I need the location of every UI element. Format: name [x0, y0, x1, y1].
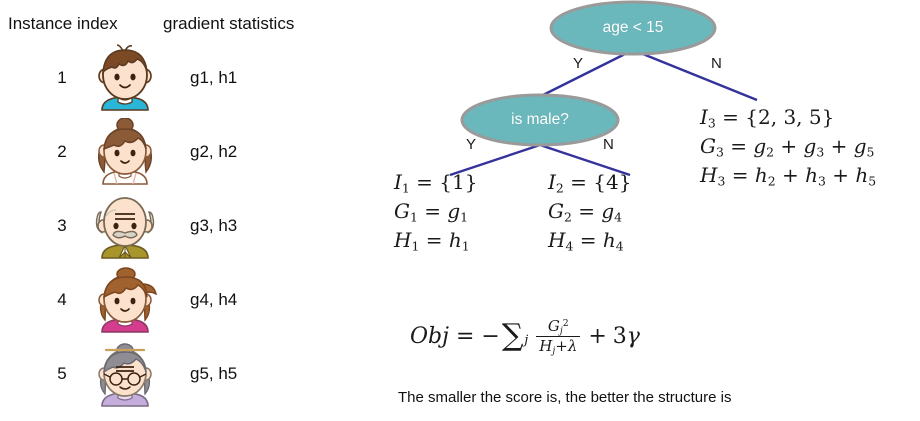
leaf-2-h-var: h	[603, 228, 616, 252]
fraction-denominator: Hj+λ	[536, 336, 580, 355]
leaf-2-instance-set: I2 = {4}	[548, 168, 631, 197]
row-index: 4	[50, 290, 74, 310]
leaf-3-statistics: I3 = {2, 3, 5} G3 = g2 + g3 + g5 H3 = h2…	[700, 103, 876, 190]
table-row: 2 g2, h2	[0, 116, 340, 190]
row-gradient-statistics: g2, h2	[190, 142, 237, 162]
numerator-var: G	[548, 317, 560, 335]
leaf-2-statistics: I2 = {4} G2 = g4 H4 = h4	[548, 168, 631, 255]
leaf-1-h-var: h	[449, 228, 462, 252]
leaf-1-hessian: H1 = h1	[394, 226, 477, 255]
leaf-1-G-sub: 1	[410, 209, 418, 224]
leaf-3-instance-set: I3 = {2, 3, 5}	[700, 103, 876, 132]
denominator-var: H	[539, 337, 552, 355]
old-man-mustache-icon	[92, 192, 158, 260]
objective-gamma: γ	[627, 324, 640, 349]
sum-symbol: ∑	[502, 321, 523, 351]
column-header-instance-index: Instance index	[8, 14, 118, 34]
girl-brown-bun-icon	[92, 118, 158, 186]
row-index: 5	[50, 364, 74, 384]
leaf-3-I-value: {2, 3, 5}	[745, 105, 834, 129]
leaf-3-gradient: G3 = g2 + g3 + g5	[700, 132, 876, 161]
leaf-2-G-var: G	[548, 199, 564, 223]
objective-equals: =	[456, 324, 474, 349]
leaf-3-G-sub: 3	[716, 144, 724, 159]
leaf-2-g-sub: 4	[614, 209, 622, 224]
leaf-3-G-var: G	[700, 134, 716, 158]
leaf-3-g-var-1: g	[753, 134, 766, 158]
objective-fraction: Gj2 Hj+λ	[536, 318, 580, 355]
numerator-sup: 2	[563, 318, 569, 329]
leaf-1-G-var: G	[394, 199, 410, 223]
leaf-3-h-var-1: h	[755, 163, 768, 187]
leaf-2-hessian: H4 = h4	[548, 226, 631, 255]
leaf-2-I-var: I	[548, 170, 556, 194]
leaf-1-I-sub: 1	[402, 180, 410, 195]
leaf-1-instance-set: I1 = {1}	[394, 168, 477, 197]
leaf-3-H-sub: 3	[717, 173, 725, 188]
tree-node-root-label: age < 15	[553, 19, 713, 37]
sum-index: j	[524, 333, 528, 351]
row-gradient-statistics: g5, h5	[190, 364, 237, 384]
leaf-3-I-var: I	[700, 105, 708, 129]
leaf-1-g-var: g	[447, 199, 460, 223]
column-header-gradient-statistics: gradient statistics	[163, 14, 294, 34]
leaf-1-g-sub: 1	[460, 209, 468, 224]
tree-node-is-male-label: is male?	[462, 111, 618, 129]
row-index: 1	[50, 68, 74, 88]
leaf-1-H-sub: 1	[411, 238, 419, 253]
leaf-1-I-value: {1}	[439, 170, 477, 194]
edge-label-root-yes: Y	[573, 55, 583, 72]
old-woman-glasses-icon	[92, 340, 158, 408]
leaf-3-h-var-3: h	[855, 163, 868, 187]
edge-root-no	[633, 50, 757, 100]
table-row: 5	[0, 338, 340, 412]
caption-text: The smaller the score is, the better the…	[398, 389, 731, 406]
objective-plus: +	[588, 324, 606, 349]
leaf-1-statistics: I1 = {1} G1 = g1 H1 = h1	[394, 168, 477, 255]
decision-tree: age < 15 is male? Y N Y N I1 = {1} G1 = …	[390, 0, 920, 421]
leaf-2-gradient: G2 = g4	[548, 197, 631, 226]
edge-label-child-no: N	[603, 136, 614, 153]
boy-teal-shirt-icon	[92, 44, 158, 112]
leaf-1-H-var: H	[394, 228, 411, 252]
leaf-3-h-sub-3: 5	[868, 173, 876, 188]
leaf-3-h-sub-2: 3	[818, 173, 826, 188]
leaf-1-I-var: I	[394, 170, 402, 194]
leaf-3-H-var: H	[700, 163, 717, 187]
summation: ∑ j	[502, 321, 528, 351]
leaf-2-H-var: H	[548, 228, 565, 252]
leaf-3-g-sub-2: 3	[816, 144, 824, 159]
row-gradient-statistics: g4, h4	[190, 290, 237, 310]
objective-coefficient: 3	[613, 324, 627, 349]
leaf-2-g-var: g	[601, 199, 614, 223]
leaf-3-g-sub-3: 5	[867, 144, 875, 159]
leaf-3-h-sub-1: 2	[768, 173, 776, 188]
table-row: 3 g3, h3	[0, 190, 340, 264]
denominator-lambda: λ	[568, 337, 578, 355]
leaf-2-H-sub: 4	[565, 238, 573, 253]
edge-label-child-yes: Y	[466, 136, 476, 153]
leaf-3-h-var-2: h	[805, 163, 818, 187]
denominator-plus: +	[555, 337, 568, 355]
leaf-1-h-sub: 1	[462, 238, 470, 253]
leaf-2-I-sub: 2	[556, 180, 564, 195]
row-gradient-statistics: g1, h1	[190, 68, 237, 88]
leaf-3-hessian: H3 = h2 + h3 + h5	[700, 161, 876, 190]
leaf-2-h-sub: 4	[616, 238, 624, 253]
table-row: 1 g1, h1	[0, 42, 340, 116]
leaf-2-G-sub: 2	[564, 209, 572, 224]
slide-canvas: Instance index gradient statistics 1	[0, 0, 920, 421]
edge-label-root-no: N	[711, 55, 722, 72]
girl-ponytail-pink-icon	[92, 266, 158, 334]
leaf-3-g-sub-1: 2	[766, 144, 774, 159]
fraction-numerator: Gj2	[545, 318, 572, 336]
row-index: 3	[50, 216, 74, 236]
leaf-1-gradient: G1 = g1	[394, 197, 477, 226]
leaf-3-g-var-2: g	[804, 134, 817, 158]
objective-lhs: Obj	[410, 324, 449, 349]
objective-minus: −	[481, 324, 499, 349]
table-row: 4 g4, h4	[0, 264, 340, 338]
leaf-2-I-value: {4}	[593, 170, 631, 194]
row-gradient-statistics: g3, h3	[190, 216, 237, 236]
objective-formula: Obj = − ∑ j Gj2 Hj+λ + 3γ	[410, 318, 640, 355]
leaf-3-I-sub: 3	[708, 115, 716, 130]
leaf-3-g-var-3: g	[854, 134, 867, 158]
row-index: 2	[50, 142, 74, 162]
instance-table: Instance index gradient statistics 1	[0, 0, 340, 421]
